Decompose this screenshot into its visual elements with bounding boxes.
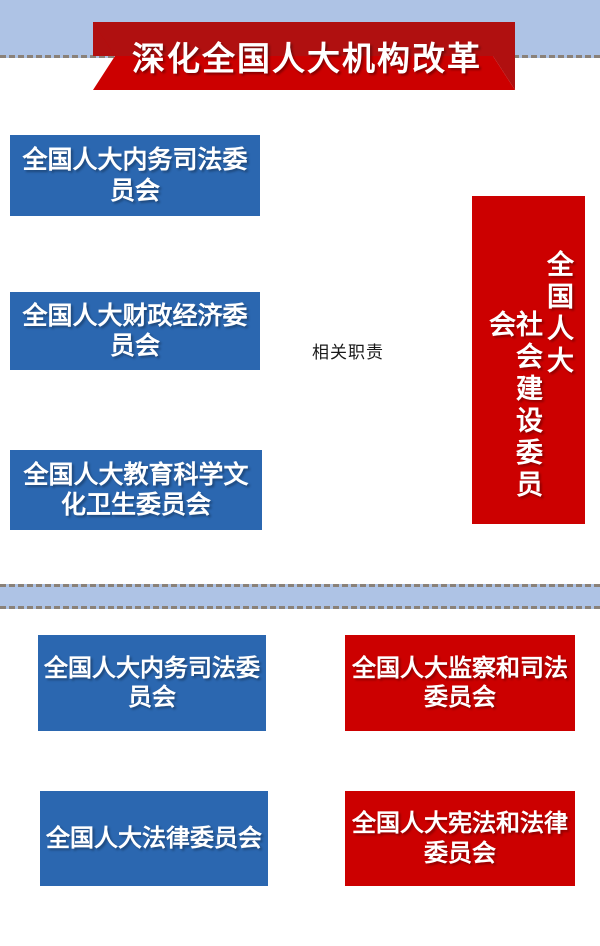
section-divider-band <box>0 584 600 609</box>
new-committee-column-right: 全国人大 <box>544 250 571 378</box>
before-rename-box-law: 全国人大法律委员会 <box>40 791 268 886</box>
title-ribbon: 深化全国人大机构改革 <box>93 22 515 90</box>
related-duties-caption: 相关职责 <box>300 338 396 363</box>
old-committee-box-internal-judicial: 全国人大内务司法委员会 <box>10 135 260 216</box>
old-committee-box-financial-economic: 全国人大财政经济委员会 <box>10 292 260 370</box>
new-committee-column-left: 社会建设委员会 <box>486 310 540 514</box>
after-rename-box-constitution-law: 全国人大宪法和法律委员会 <box>345 791 575 886</box>
new-committee-box-social-development: 全国人大 社会建设委员会 <box>472 196 585 524</box>
page-title: 深化全国人大机构改革 <box>93 22 515 90</box>
before-rename-box-internal-judicial: 全国人大内务司法委员会 <box>38 635 266 731</box>
after-rename-box-supervisory-judicial: 全国人大监察和司法委员会 <box>345 635 575 731</box>
old-committee-box-education-science-culture-health: 全国人大教育科学文化卫生委员会 <box>10 450 262 530</box>
